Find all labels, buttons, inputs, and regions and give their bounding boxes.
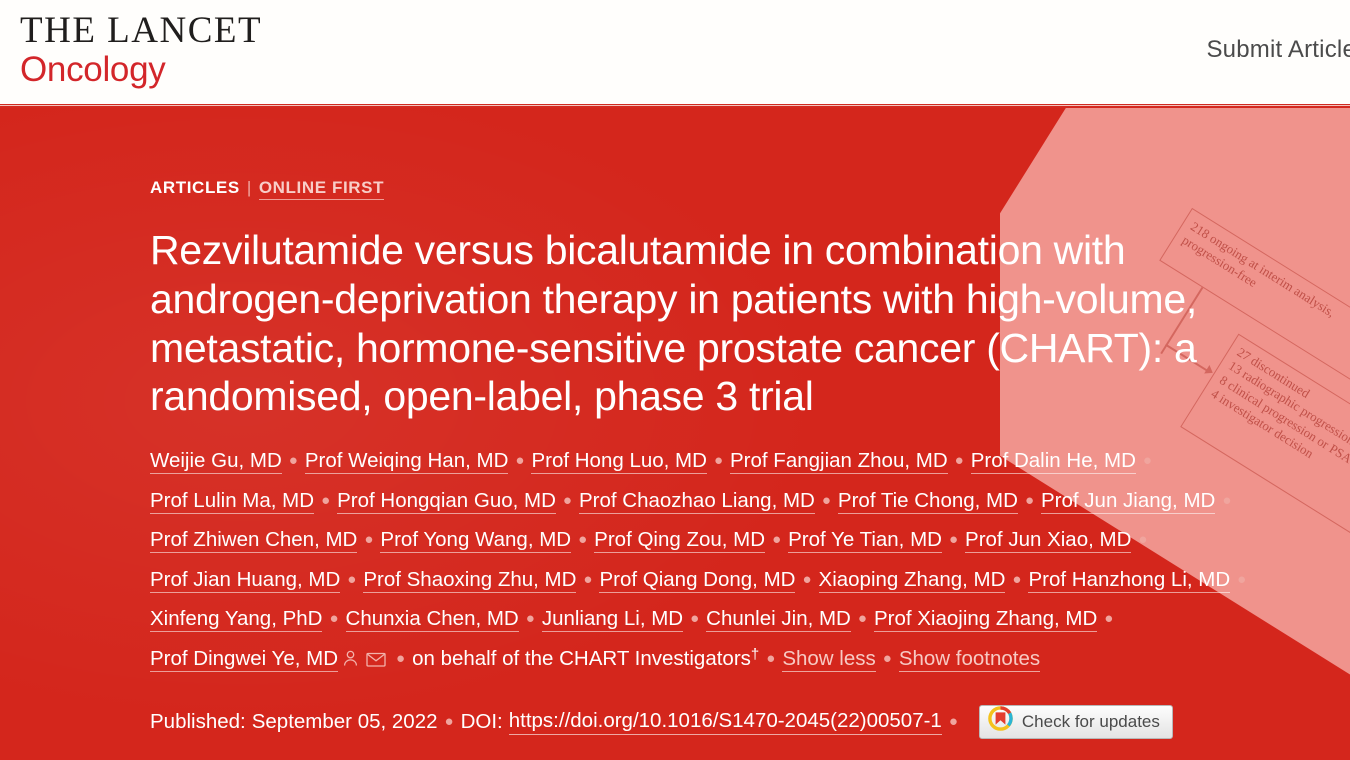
author-separator-dot: ● [766,645,775,674]
author-link[interactable]: Prof Dalin He, MD [971,449,1136,474]
author-separator-dot: ● [858,605,867,634]
author-link[interactable]: Xinfeng Yang, PhD [150,607,322,632]
author-link[interactable]: Prof Dingwei Ye, MD [150,647,338,672]
author-separator-dot: ● [515,447,524,476]
author-separator-dot: ● [289,447,298,476]
article-hero-banner: 3 218 ongoing at interim analysis,progre… [0,108,1350,760]
author-link[interactable]: Prof Fangjian Zhou, MD [730,449,948,474]
author-separator-dot: ● [1222,487,1231,516]
meta-separator-dot: ● [949,713,958,730]
check-for-updates-button[interactable]: Check for updates [979,705,1173,739]
author-link[interactable]: Weijie Gu, MD [150,449,282,474]
author-link[interactable]: Prof Jun Jiang, MD [1041,489,1215,514]
author-separator-dot: ● [329,605,338,634]
published-label: Published: [150,710,246,734]
author-separator-dot: ● [364,526,373,555]
author-link[interactable]: Prof Lulin Ma, MD [150,489,314,514]
published-date: September 05, 2022 [252,710,438,734]
author-link[interactable]: Prof Jun Xiao, MD [965,528,1131,553]
journal-logo[interactable]: THE LANCET Oncology [0,0,262,87]
article-type-label: ARTICLES [150,178,240,197]
author-separator-dot: ● [583,566,592,595]
author-separator-dot: ● [883,645,892,674]
footnote-dagger-marker[interactable]: † [751,646,759,663]
doi-link[interactable]: https://doi.org/10.1016/S1470-2045(22)00… [509,709,942,735]
show-less-link[interactable]: Show less [782,647,875,672]
author-separator-dot: ● [772,526,781,555]
show-footnotes-link[interactable]: Show footnotes [899,647,1040,672]
author-link[interactable]: Prof Xiaojing Zhang, MD [874,607,1097,632]
author-link[interactable]: Prof Hongqian Guo, MD [337,489,556,514]
page-title: Rezvilutamide versus bicalutamide in com… [150,226,1250,421]
author-separator-dot: ● [1237,566,1246,595]
author-link[interactable]: Prof Qing Zou, MD [594,528,765,553]
author-link[interactable]: Xiaoping Zhang, MD [819,568,1006,593]
author-link[interactable]: Prof Chaozhao Liang, MD [579,489,815,514]
author-separator-dot: ● [347,566,356,595]
author-separator-dot: ● [822,487,831,516]
author-separator-dot: ● [396,645,405,674]
author-link[interactable]: Prof Shaoxing Zhu, MD [363,568,576,593]
article-kicker: ARTICLES|ONLINE FIRST [150,178,1255,198]
author-link[interactable]: Prof Jian Huang, MD [150,568,340,593]
author-separator-dot: ● [563,487,572,516]
author-link[interactable]: Chunlei Jin, MD [706,607,851,632]
author-link[interactable]: Prof Ye Tian, MD [788,528,942,553]
author-list: Weijie Gu, MD●Prof Weiqing Han, MD●Prof … [150,441,1255,678]
submit-article-link[interactable]: Submit Article [1206,36,1350,64]
author-link[interactable]: Prof Zhiwen Chen, MD [150,528,357,553]
author-separator-dot: ● [949,526,958,555]
author-profile-icon[interactable] [341,649,360,668]
email-icon[interactable] [366,651,386,668]
author-link[interactable]: Prof Yong Wang, MD [380,528,571,553]
author-separator-dot: ● [1012,566,1021,595]
meta-separator-dot: ● [445,713,454,730]
author-link[interactable]: Prof Weiqing Han, MD [305,449,509,474]
header-nav: Submit Article [1206,0,1350,64]
kicker-separator: | [247,178,252,197]
author-link[interactable]: Prof Qiang Dong, MD [599,568,795,593]
crossmark-logo-icon [988,706,1013,737]
author-link[interactable]: Junliang Li, MD [542,607,683,632]
author-separator-dot: ● [1025,487,1034,516]
author-separator-dot: ● [802,566,811,595]
author-separator-dot: ● [1143,447,1152,476]
author-separator-dot: ● [321,487,330,516]
brand-the-lancet: THE LANCET [20,12,262,49]
article-metadata-row: Published: September 05, 2022 ● DOI: htt… [150,705,1255,739]
author-separator-dot: ● [526,605,535,634]
author-link[interactable]: Prof Hong Luo, MD [531,449,706,474]
author-separator-dot: ● [955,447,964,476]
author-link[interactable]: Chunxia Chen, MD [346,607,519,632]
author-link[interactable]: Prof Tie Chong, MD [838,489,1018,514]
author-separator-dot: ● [578,526,587,555]
article-header-content: ARTICLES|ONLINE FIRST Rezvilutamide vers… [150,178,1255,739]
author-separator-dot: ● [1138,526,1147,555]
author-separator-dot: ● [714,447,723,476]
brand-journal-name: Oncology [20,52,262,87]
doi-label: DOI: [461,710,503,734]
article-hero-page: THE LANCET Oncology Submit Article 3 218… [0,0,1350,760]
online-first-badge[interactable]: ONLINE FIRST [259,178,384,200]
author-link[interactable]: Prof Hanzhong Li, MD [1028,568,1230,593]
on-behalf-of-text: on behalf of the CHART Investigators [412,647,751,670]
author-separator-dot: ● [1104,605,1113,634]
check-for-updates-label: Check for updates [1022,712,1160,732]
site-header: THE LANCET Oncology Submit Article [0,0,1350,105]
author-separator-dot: ● [690,605,699,634]
